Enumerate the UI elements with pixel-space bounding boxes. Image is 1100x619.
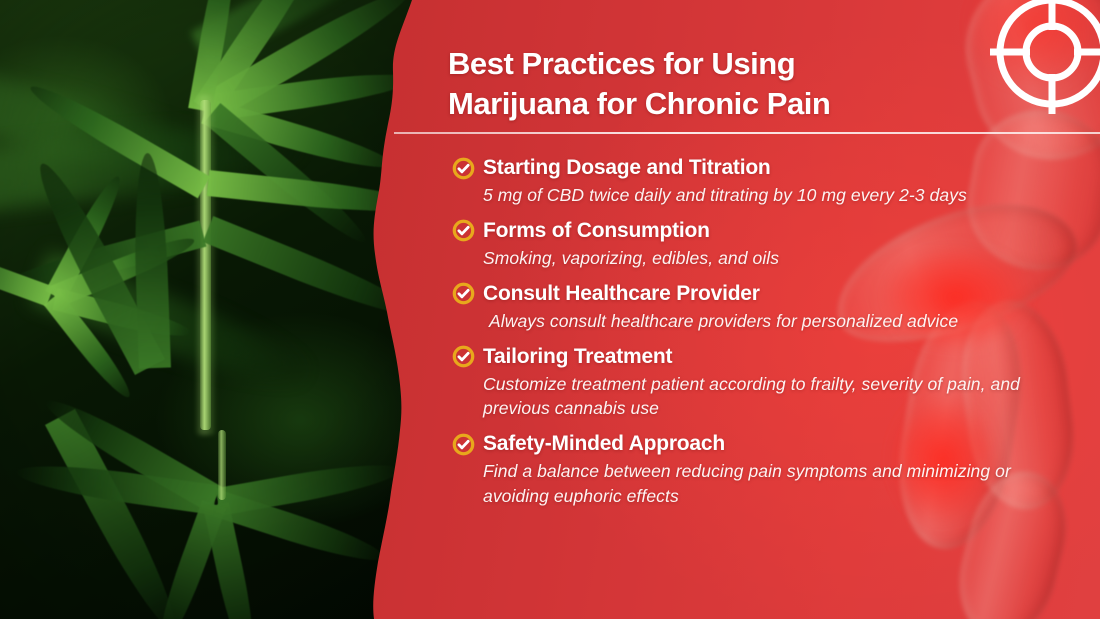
list-item: Tailoring Treatment Customize treatment …: [452, 345, 1072, 422]
list-item: Forms of Consumption Smoking, vaporizing…: [452, 219, 1072, 271]
list-item: Starting Dosage and Titration 5 mg of CB…: [452, 156, 1072, 208]
list-item-title: Forms of Consumption: [483, 219, 710, 243]
list-item-description: Smoking, vaporizing, edibles, and oils: [483, 246, 1072, 271]
list-item: Safety-Minded Approach Find a balance be…: [452, 432, 1072, 509]
check-circle-icon: [452, 345, 475, 368]
list-item: Consult Healthcare Provider Always consu…: [452, 282, 1072, 334]
cannabis-plant-photo: [0, 0, 430, 619]
infographic-slide: Best Practices for Using Marijuana for C…: [0, 0, 1100, 619]
list-item-title: Tailoring Treatment: [483, 345, 672, 369]
check-circle-icon: [452, 157, 475, 180]
list-item-description: 5 mg of CBD twice daily and titrating by…: [483, 183, 1072, 208]
check-circle-icon: [452, 282, 475, 305]
title-line-1: Best Practices for Using: [448, 44, 1048, 84]
list-item-description: Customize treatment patient according to…: [483, 372, 1072, 422]
best-practices-list: Starting Dosage and Titration 5 mg of CB…: [452, 156, 1072, 520]
list-item-title: Starting Dosage and Titration: [483, 156, 771, 180]
check-circle-icon: [452, 433, 475, 456]
page-title: Best Practices for Using Marijuana for C…: [448, 44, 1048, 123]
title-line-2: Marijuana for Chronic Pain: [448, 84, 1048, 124]
list-item-description: Find a balance between reducing pain sym…: [483, 459, 1072, 509]
photo-vignette: [0, 0, 430, 619]
list-item-description: Always consult healthcare providers for …: [489, 309, 1072, 334]
list-item-title: Consult Healthcare Provider: [483, 282, 760, 306]
list-item-title: Safety-Minded Approach: [483, 432, 725, 456]
check-circle-icon: [452, 219, 475, 242]
title-divider: [394, 132, 1100, 134]
